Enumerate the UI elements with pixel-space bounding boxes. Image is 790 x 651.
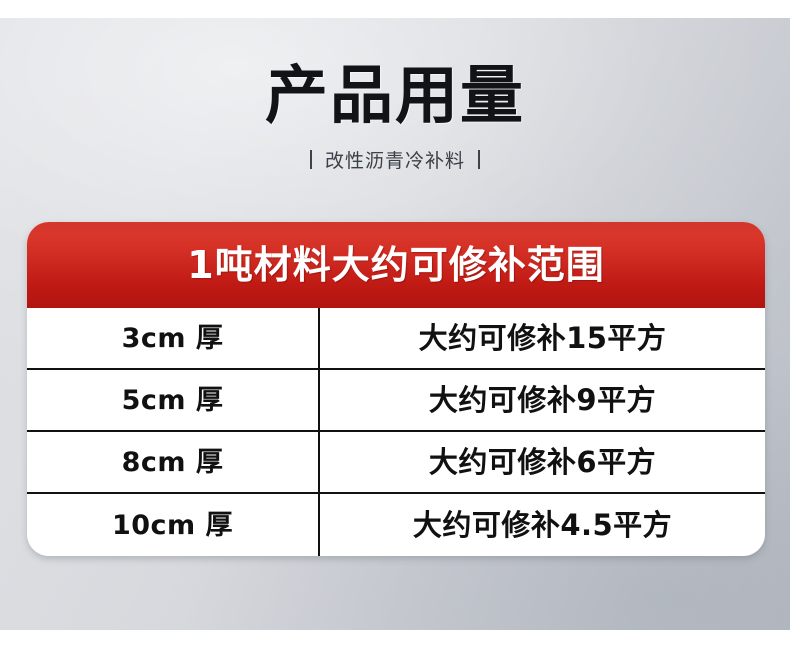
table-cell-area: 大约可修补9平方 [320,370,765,430]
subtitle-left-bar-icon [310,150,312,169]
usage-table-card: 1吨材料大约可修补范围 3cm 厚 大约可修补15平方 5cm 厚 大约可修补9… [27,222,765,556]
table-cell-thickness: 10cm 厚 [27,494,320,556]
thickness-value: 3cm 厚 [122,325,224,352]
area-value: 大约可修补15平方 [419,324,667,353]
thickness-value: 5cm 厚 [122,387,224,414]
table-cell-area: 大约可修补4.5平方 [320,494,765,556]
subtitle-right-bar-icon [478,150,480,169]
table-cell-thickness: 3cm 厚 [27,308,320,368]
thickness-value: 10cm 厚 [112,512,233,539]
table-cell-area: 大约可修补15平方 [320,308,765,368]
area-value: 大约可修补9平方 [429,386,656,415]
page-title: 产品用量 [0,64,790,127]
subtitle-text: 改性沥青冷补料 [325,146,465,173]
card-header-title: 1吨材料大约可修补范围 [187,246,604,284]
table-cell-area: 大约可修补6平方 [320,432,765,492]
table-row: 10cm 厚 大约可修补4.5平方 [27,494,765,556]
card-header-banner: 1吨材料大约可修补范围 [27,222,765,308]
area-value: 大约可修补6平方 [429,448,656,477]
area-value: 大约可修补4.5平方 [413,511,672,540]
table-row: 5cm 厚 大约可修补9平方 [27,370,765,432]
subtitle-row: 改性沥青冷补料 [0,146,790,173]
heading-block: 产品用量 改性沥青冷补料 [0,64,790,173]
table-cell-thickness: 5cm 厚 [27,370,320,430]
table-cell-thickness: 8cm 厚 [27,432,320,492]
thickness-value: 8cm 厚 [122,449,224,476]
product-usage-infographic: 产品用量 改性沥青冷补料 1吨材料大约可修补范围 3cm 厚 大约可修补15平方 [0,0,790,651]
table-row: 3cm 厚 大约可修补15平方 [27,308,765,370]
usage-table: 3cm 厚 大约可修补15平方 5cm 厚 大约可修补9平方 8cm 厚 [27,308,765,556]
table-row: 8cm 厚 大约可修补6平方 [27,432,765,494]
